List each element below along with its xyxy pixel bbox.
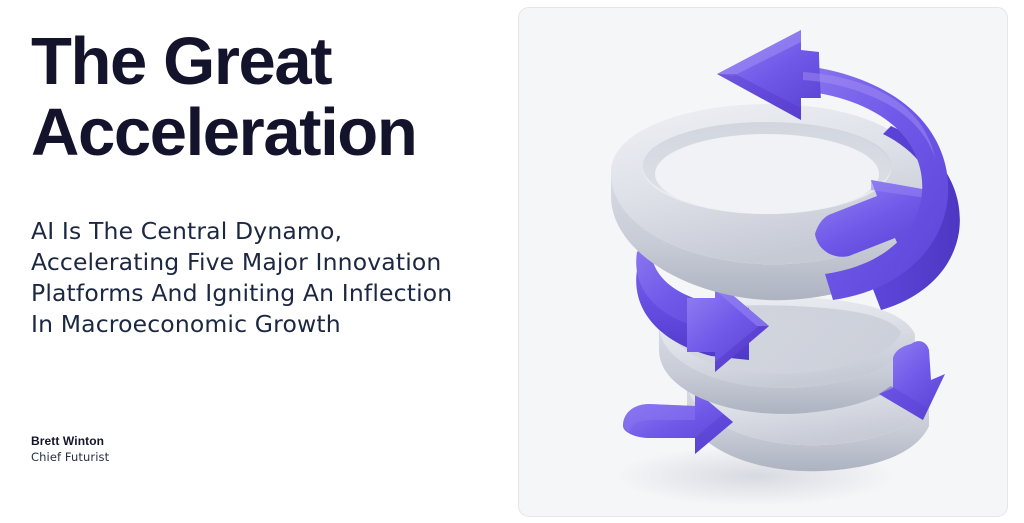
author-name: Brett Winton bbox=[31, 434, 109, 449]
subtitle-line-3: Platforms And Igniting An Inflection bbox=[31, 278, 511, 309]
hero-text-column: The Great Acceleration AI Is The Central… bbox=[0, 0, 512, 523]
page-title: The Great Acceleration bbox=[31, 26, 501, 168]
title-line-1: The Great bbox=[31, 26, 501, 97]
author-role: Chief Futurist bbox=[31, 449, 109, 465]
slide-root: The Great Acceleration AI Is The Central… bbox=[0, 0, 1024, 523]
upward-spiral-arrows-icon bbox=[519, 8, 1008, 517]
artwork-card bbox=[518, 7, 1008, 517]
subtitle-line-4: In Macroeconomic Growth bbox=[31, 309, 511, 340]
subtitle-line-1: AI Is The Central Dynamo, bbox=[31, 216, 511, 247]
title-line-2: Acceleration bbox=[31, 97, 501, 168]
author-byline: Brett Winton Chief Futurist bbox=[31, 434, 109, 465]
subtitle-line-2: Accelerating Five Major Innovation bbox=[31, 247, 511, 278]
page-subtitle: AI Is The Central Dynamo, Accelerating F… bbox=[31, 216, 511, 340]
